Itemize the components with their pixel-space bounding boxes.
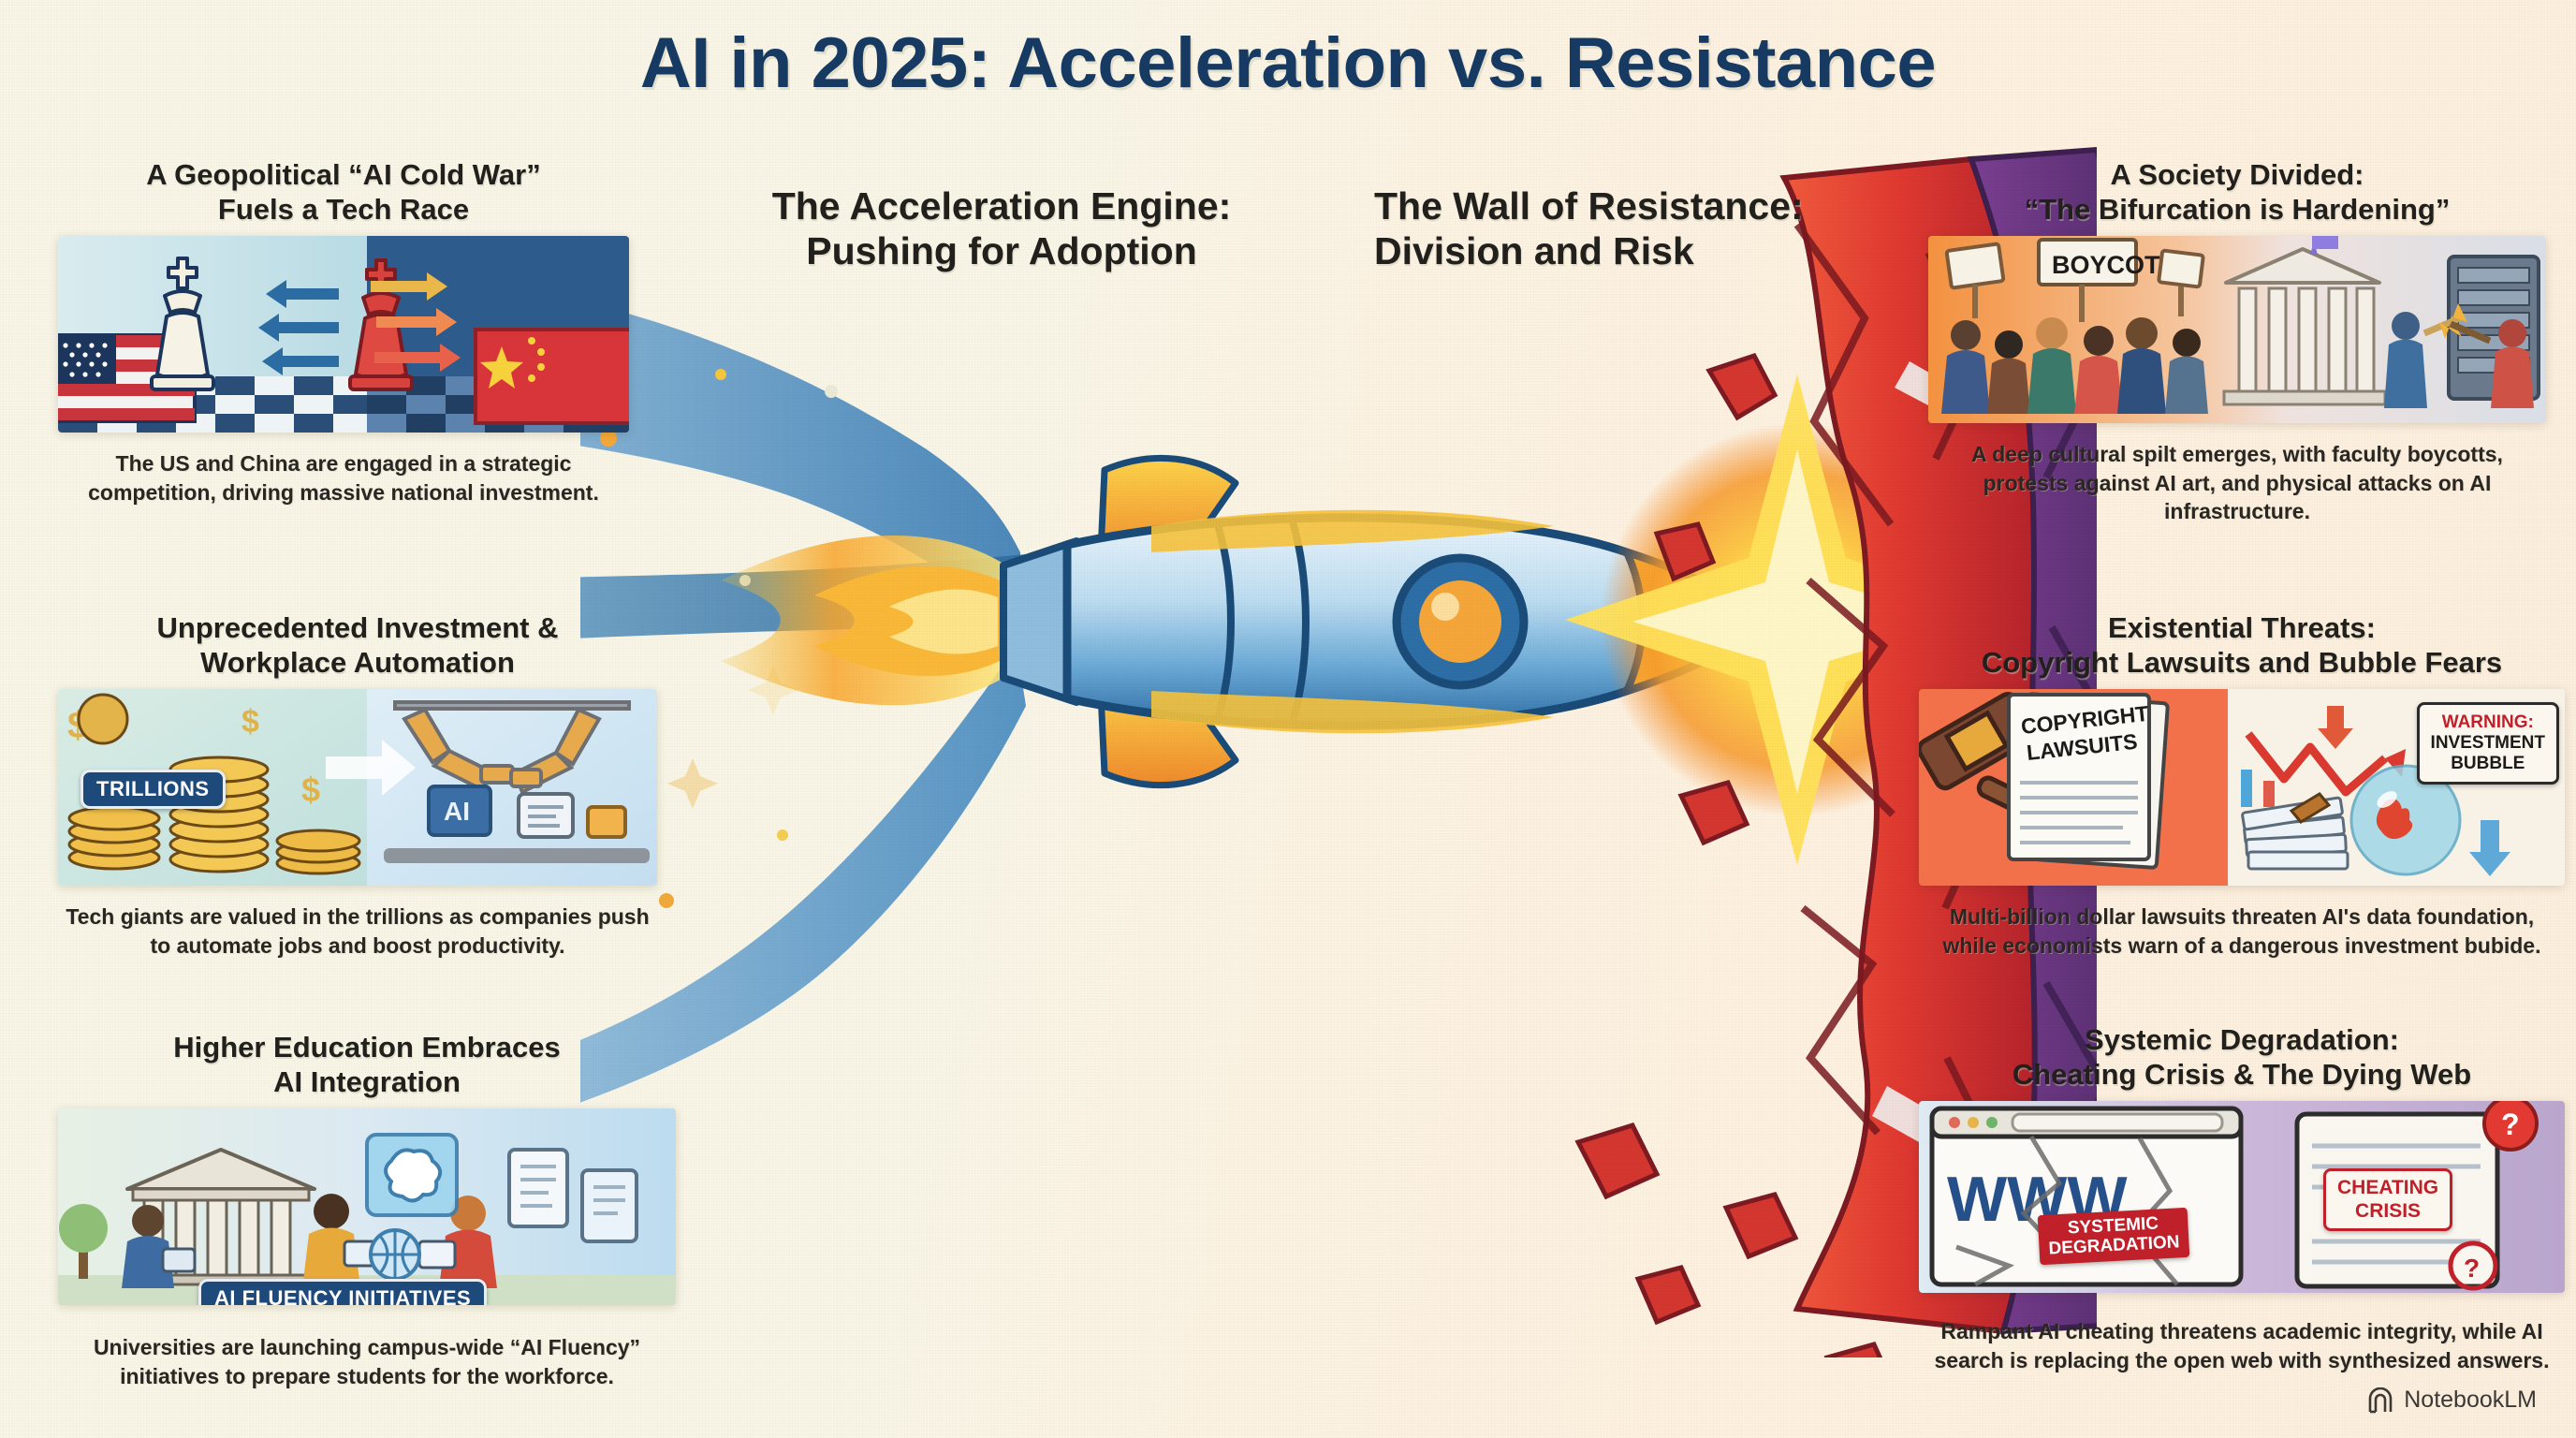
panel-existential-caption-line1: Multi-billion dollar lawsuits threaten A… [1919, 902, 2565, 931]
panel-existential-title: Existential Threats: Copyright Lawsuits … [1919, 610, 2565, 680]
panel-society-title: A Society Divided: “The Bifurcation is H… [1928, 157, 2546, 227]
heading-acceleration: The Acceleration Engine: Pushing for Ado… [721, 183, 1282, 274]
heading-resistance-line1: The Wall of Resistance: [1374, 183, 1936, 228]
panel-existential-art: COPYRIGHT LAWSUITS [1919, 689, 2565, 886]
warning-tag-line3: BUBBLE [2431, 754, 2545, 774]
panel-investment-caption-line1: Tech giants are valued in the trillions … [58, 902, 657, 931]
ai-brain-screen-icon [367, 1135, 457, 1215]
panel-degradation-title-line1: Systemic Degradation: [1919, 1022, 2565, 1057]
heading-acceleration-line1: The Acceleration Engine: [721, 183, 1282, 228]
panel-degradation-art: WWW x ? [1919, 1101, 2565, 1293]
panel-degradation-title-line2: Cheating Crisis & The Dying Web [1919, 1057, 2565, 1092]
panel-existential-threats: Existential Threats: Copyright Lawsuits … [1919, 610, 2565, 960]
panel-education-caption-line1: Universities are launching campus-wide “… [58, 1333, 676, 1361]
panel-geopolitical-title: A Geopolitical “AI Cold War” Fuels a Tec… [58, 157, 629, 227]
page-title: AI in 2025: Acceleration vs. Resistance [0, 22, 2576, 104]
systemic-degradation-tag: SYSTEMIC DEGRADATION [2038, 1208, 2190, 1265]
panel-investment-art: $ $ $ $ [58, 689, 657, 886]
heading-acceleration-line2: Pushing for Adoption [721, 228, 1282, 273]
panel-existential-title-line2: Copyright Lawsuits and Bubble Fears [1919, 645, 2565, 680]
svg-text:BOYCOTT: BOYCOTT [2052, 251, 2176, 279]
copyright-lawsuits-document-icon: COPYRIGHT LAWSUITS [2009, 694, 2168, 868]
infographic-canvas: AI in 2025: Acceleration vs. Resistance … [0, 0, 2576, 1438]
panel-society-art: BOYCOTT [1928, 236, 2546, 423]
notebooklm-icon [2366, 1387, 2394, 1414]
panel-education: Higher Education Embraces AI Integration [58, 1030, 676, 1390]
warning-tag-line1: WARNING: [2431, 712, 2545, 733]
panel-investment-title-line1: Unprecedented Investment & [58, 610, 657, 645]
panel-existential-caption: Multi-billion dollar lawsuits threaten A… [1919, 902, 2565, 960]
product-screen-icon [519, 794, 573, 837]
panel-society-title-line1: A Society Divided: [1928, 157, 2546, 192]
notebooklm-watermark: NotebookLM [2366, 1387, 2537, 1414]
panel-investment-caption-line2: to automate jobs and boost productivity. [58, 932, 657, 960]
panel-society-caption-line1: A deep cultural spilt emerges, with facu… [1928, 440, 2546, 468]
panel-investment: Unprecedented Investment & Workplace Aut… [58, 610, 657, 960]
panel-society-title-line2: “The Bifurcation is Hardening” [1928, 192, 2546, 227]
question-mark-bottom: ? [2464, 1254, 2480, 1283]
panel-degradation-caption-line1: Rampant AI cheating threatens academic i… [1919, 1317, 2565, 1345]
conveyor-belt-icon [384, 848, 650, 863]
panel-systemic-degradation: Systemic Degradation: Cheating Crisis & … [1919, 1022, 2565, 1374]
panel-education-title: Higher Education Embraces AI Integration [58, 1030, 676, 1099]
svg-text:$: $ [301, 770, 320, 809]
panel-existential-title-line1: Existential Threats: [1919, 610, 2565, 645]
warning-investment-bubble-tag: WARNING: INVESTMENT BUBBLE [2417, 702, 2559, 785]
panel-geopolitical-caption-line2: competition, driving massive national in… [58, 478, 629, 506]
cheating-crisis-line1: CHEATING [2337, 1177, 2438, 1199]
panel-geopolitical-title-line1: A Geopolitical “AI Cold War” [58, 157, 629, 192]
warning-tag-line2: INVESTMENT [2431, 733, 2545, 754]
panel-geopolitical: A Geopolitical “AI Cold War” Fuels a Tec… [58, 157, 629, 506]
notebooklm-label: NotebookLM [2404, 1387, 2537, 1414]
cheating-crisis-tag: CHEATING CRISIS [2323, 1168, 2452, 1230]
panel-education-title-line1: Higher Education Embraces [58, 1030, 676, 1064]
panel-geopolitical-caption: The US and China are engaged in a strate… [58, 449, 629, 506]
china-flag-icon [476, 330, 629, 423]
panel-degradation-caption: Rampant AI cheating threatens academic i… [1919, 1317, 2565, 1374]
panel-education-title-line2: AI Integration [58, 1064, 676, 1099]
panel-society-caption-line2: protests against AI art, and physical at… [1928, 469, 2546, 526]
panel-investment-caption: Tech giants are valued in the trillions … [58, 902, 657, 960]
panel-investment-title-line2: Workplace Automation [58, 645, 657, 680]
panel-geopolitical-title-line2: Fuels a Tech Race [58, 192, 629, 227]
box-icon [588, 807, 625, 837]
panel-society-divided: A Society Divided: “The Bifurcation is H… [1928, 157, 2546, 525]
panel-geopolitical-caption-line1: The US and China are engaged in a strate… [58, 449, 629, 477]
cheating-crisis-line2: CRISIS [2337, 1200, 2438, 1223]
panel-existential-caption-line2: while economists warn of a dangerous inv… [1919, 932, 2565, 960]
panel-degradation-title: Systemic Degradation: Cheating Crisis & … [1919, 1022, 2565, 1092]
panel-education-art: AI FLUENCY INITIATIVES [58, 1108, 676, 1305]
ai-fluency-badge: AI FLUENCY INITIATIVES [198, 1279, 487, 1305]
panel-degradation-caption-line2: search is replacing the open web with sy… [1919, 1346, 2565, 1374]
heading-resistance-line2: Division and Risk [1374, 228, 1936, 273]
heading-resistance: The Wall of Resistance: Division and Ris… [1374, 183, 1936, 274]
ai-screen-icon: AI [429, 786, 490, 835]
center-illustration [580, 140, 2097, 1357]
trillions-badge: TRILLIONS [80, 770, 226, 809]
svg-text:$: $ [241, 704, 259, 740]
panel-education-caption-line2: initiatives to prepare students for the … [58, 1362, 676, 1390]
panel-education-caption: Universities are launching campus-wide “… [58, 1333, 676, 1390]
svg-text:AI: AI [444, 797, 470, 826]
panel-investment-title: Unprecedented Investment & Workplace Aut… [58, 610, 657, 680]
panel-society-caption: A deep cultural spilt emerges, with facu… [1928, 440, 2546, 525]
panel-geopolitical-art [58, 236, 629, 433]
question-mark-top: ? [2501, 1108, 2520, 1141]
globe-icon [371, 1230, 419, 1279]
